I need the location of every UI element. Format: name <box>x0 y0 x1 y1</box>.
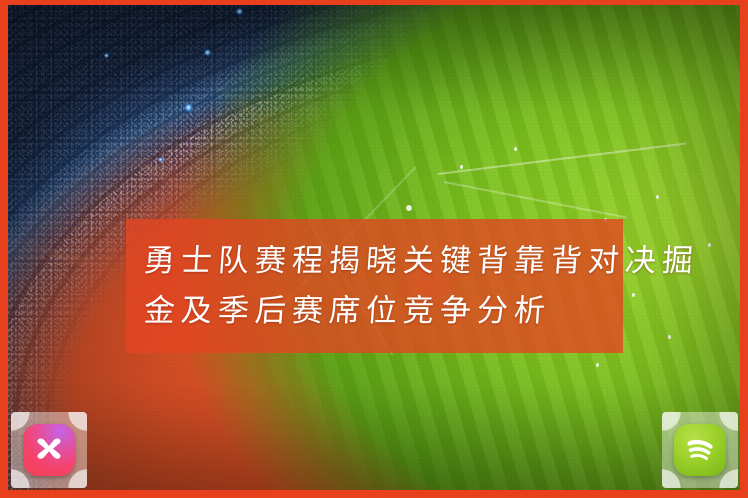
cover-screen: 勇士队赛程揭晓关键背靠背对决掘 金及季后赛席位竞争分析 <box>0 0 748 498</box>
sound-waves-icon <box>682 432 718 468</box>
spotify-app-icon[interactable] <box>662 412 738 488</box>
title-line-2: 金及季后赛席位竞争分析 <box>142 286 606 336</box>
title-line-1: 勇士队赛程揭晓关键背靠背对决掘 <box>142 236 606 286</box>
x-mark-icon <box>32 433 66 467</box>
xmind-app-icon[interactable] <box>11 412 87 488</box>
xmind-icon-body <box>23 424 75 476</box>
spotify-icon-body <box>674 424 726 476</box>
title-overlay-plate: 勇士队赛程揭晓关键背靠背对决掘 金及季后赛席位竞争分析 <box>126 219 623 353</box>
